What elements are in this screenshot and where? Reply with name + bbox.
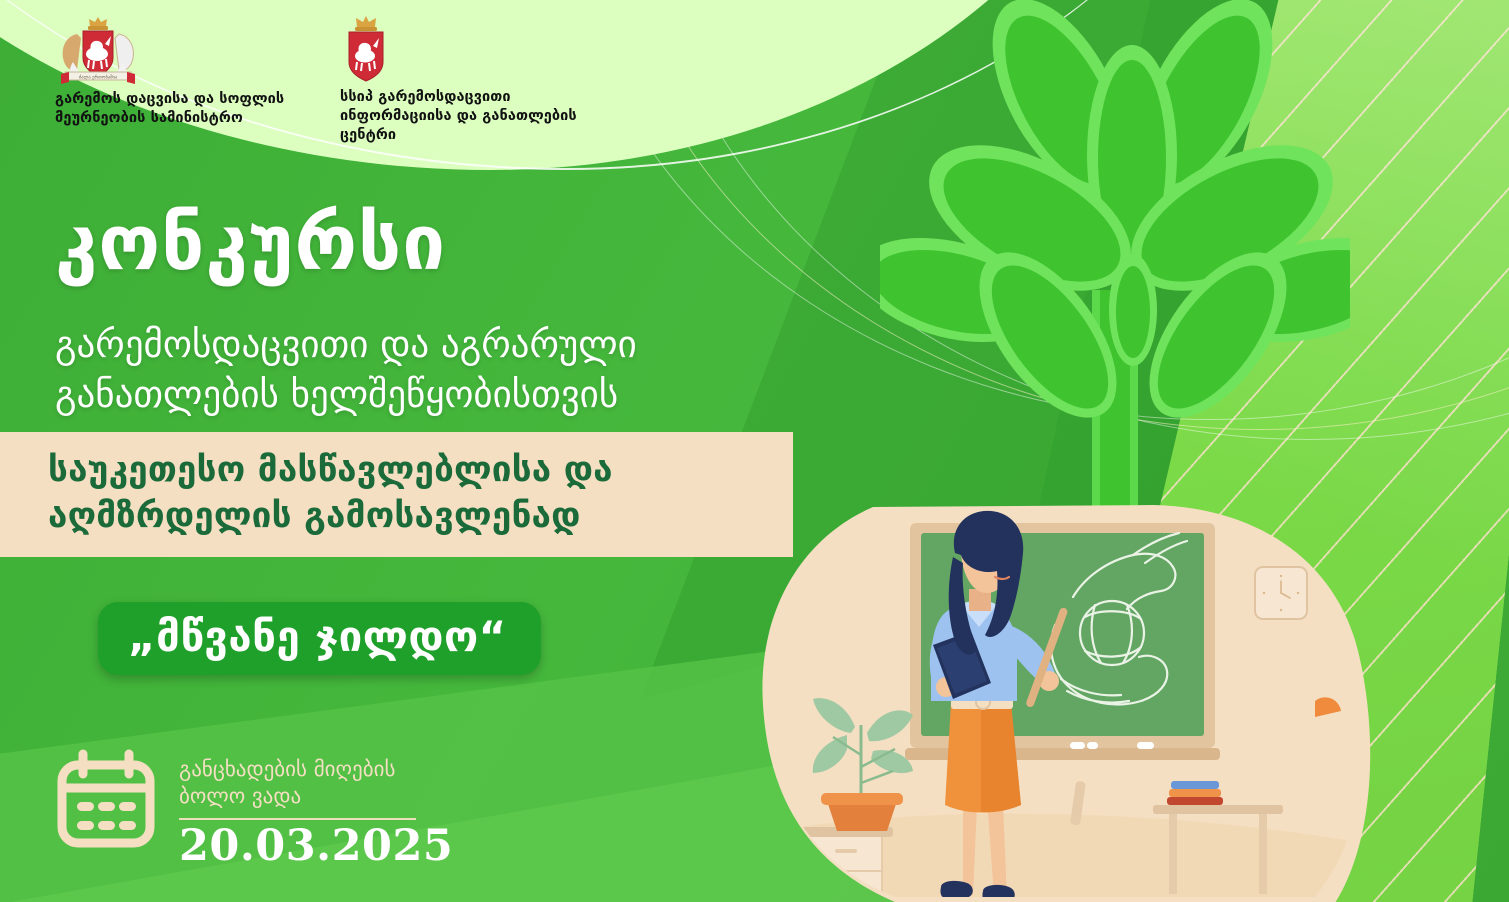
deadline-label-line-1: განცხადების მიღების (179, 756, 453, 783)
poster-content: კონკურსი გარემოსდაცვითი და აგრარული განა… (0, 0, 1509, 902)
deadline-date: 20.03.2025 (179, 824, 453, 869)
banner-line-1: საუკეთესო მასწავლებლისა და (48, 448, 773, 494)
subtitle-line-1: გარემოსდაცვითი და აგრარული (55, 320, 775, 370)
deadline-texts: განცხადების მიღების ბოლო ვადა 20.03.2025 (179, 748, 453, 869)
subtitle-line-2: განათლების ხელშეწყობისთვის (55, 370, 775, 420)
calendar-icon (55, 748, 157, 850)
deadline-divider (179, 818, 416, 820)
deadline-block: განცხადების მიღების ბოლო ვადა 20.03.2025 (55, 748, 453, 869)
award-name-badge: „მწვანე ჯილდო“ (98, 602, 541, 675)
page-subtitle: გარემოსდაცვითი და აგრარული განათლების ხე… (55, 320, 775, 420)
page-title: კონკურსი (55, 205, 446, 281)
banner-line-2: აღმზრდელის გამოსავლენად (48, 494, 773, 540)
highlight-banner: საუკეთესო მასწავლებლისა და აღმზრდელის გა… (0, 432, 793, 557)
poster-canvas: ძალა ერთობაშია გარემოს დაცვისა და სოფლის… (0, 0, 1509, 902)
deadline-label-line-2: ბოლო ვადა (179, 783, 453, 810)
